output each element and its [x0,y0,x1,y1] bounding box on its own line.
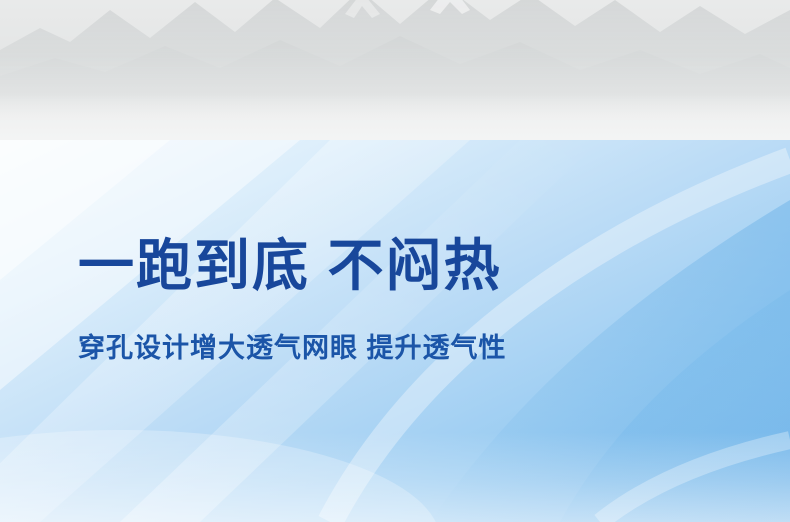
banner-subheadline: 穿孔设计增大透气网眼 提升透气性 [78,296,718,364]
product-feature-banner: 一跑到底 不闷热 穿孔设计增大透气网眼 提升透气性 [0,0,790,522]
banner-headline: 一跑到底 不闷热 [78,237,718,296]
blue-hero-area: 一跑到底 不闷热 穿孔设计增大透气网眼 提升透气性 [0,140,790,522]
top-strip-fade [0,94,790,140]
bottom-haze [0,432,790,522]
banner-text-block: 一跑到底 不闷热 穿孔设计增大透气网眼 提升透气性 [78,237,718,364]
top-grey-strip [0,0,790,140]
